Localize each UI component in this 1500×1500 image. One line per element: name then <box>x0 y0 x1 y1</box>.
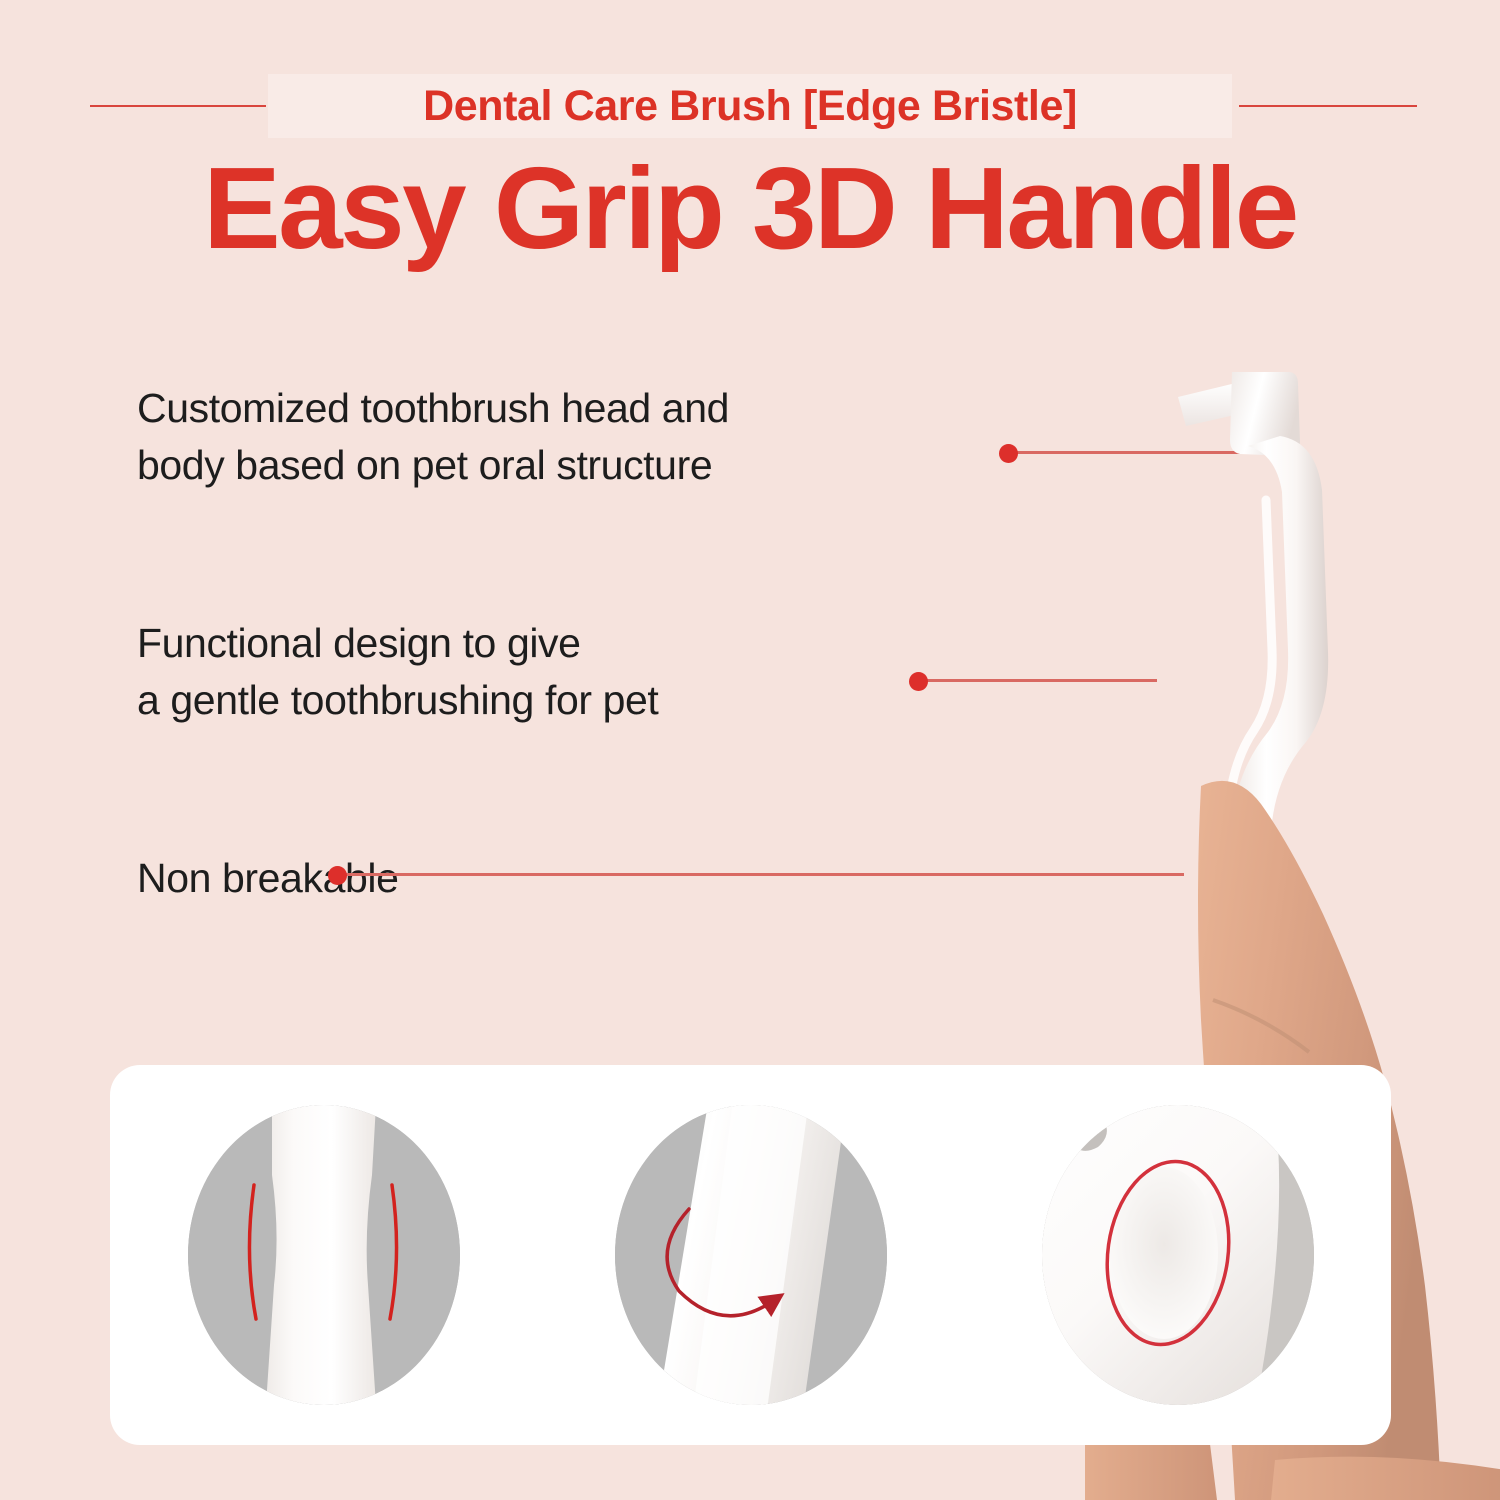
handle-body <box>266 1105 376 1405</box>
rule-left-icon <box>90 105 266 107</box>
subtitle: Dental Care Brush [Edge Bristle] <box>268 74 1232 138</box>
subtitle-row: Dental Care Brush [Edge Bristle] <box>0 74 1500 138</box>
rule-right-icon <box>1239 105 1417 107</box>
leader-dot-1-icon <box>999 444 1018 463</box>
leader-dot-3-icon <box>328 866 347 885</box>
detail-circle-handle-grip <box>615 1105 887 1405</box>
detail-circle-handle-waist <box>188 1105 460 1405</box>
infographic-page: Dental Care Brush [Edge Bristle] Easy Gr… <box>0 0 1500 1500</box>
leader-line-3 <box>336 873 1184 876</box>
feature-customized-head: Customized toothbrush head and body base… <box>137 380 729 495</box>
wrist <box>1271 1457 1500 1500</box>
detail-circle-list <box>110 1065 1391 1445</box>
detail-card <box>110 1065 1391 1445</box>
feature-functional-design: Functional design to give a gentle tooth… <box>137 615 658 730</box>
page-title: Easy Grip 3D Handle <box>0 150 1500 266</box>
detail-circle-thumb-rest <box>1042 1105 1314 1405</box>
feature-non-breakable: Non breakable <box>137 850 398 907</box>
leader-dot-2-icon <box>909 672 928 691</box>
